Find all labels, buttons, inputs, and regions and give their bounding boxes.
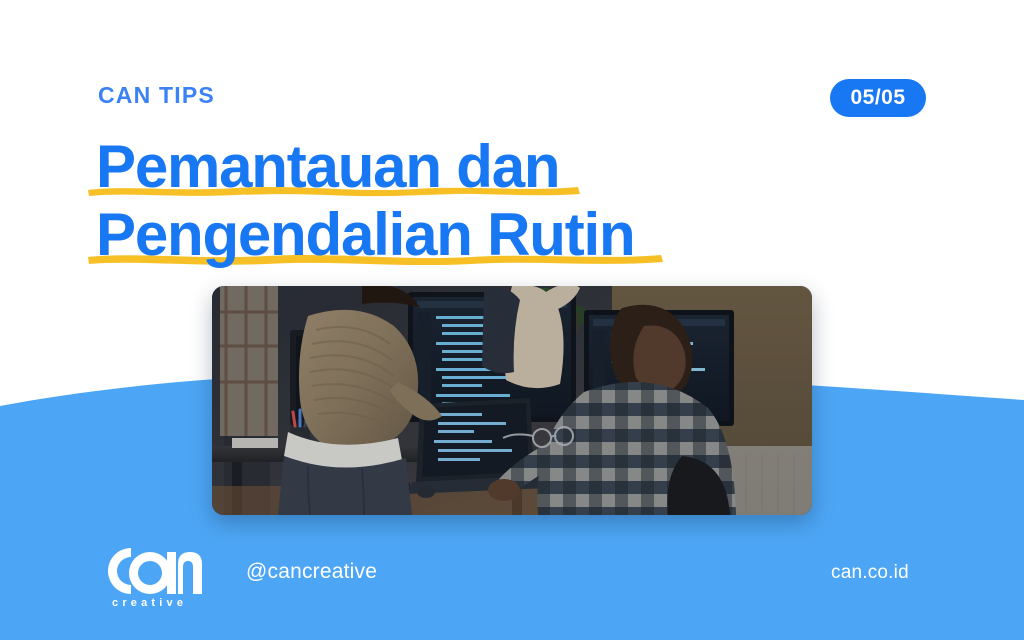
brand-logo: creative xyxy=(98,542,210,608)
social-handle[interactable]: @cancreative xyxy=(246,561,377,582)
logo-tagline: creative xyxy=(112,597,187,608)
headline-line-2: Pengendalian Rutin xyxy=(96,201,796,269)
page-counter-badge: 05/05 xyxy=(830,79,926,117)
headline: Pemantauan dan Pengendalian Rutin xyxy=(96,133,796,269)
kicker-label: CAN TIPS xyxy=(98,84,215,107)
website-url[interactable]: can.co.id xyxy=(831,563,909,582)
hero-photo xyxy=(212,286,812,515)
slide-canvas: CAN TIPS 05/05 Pemantauan dan Pengendali… xyxy=(0,0,1024,640)
headline-line-1: Pemantauan dan xyxy=(96,133,796,201)
headline-text-1: Pemantauan dan xyxy=(96,133,559,200)
headline-text-2: Pengendalian Rutin xyxy=(96,201,634,268)
